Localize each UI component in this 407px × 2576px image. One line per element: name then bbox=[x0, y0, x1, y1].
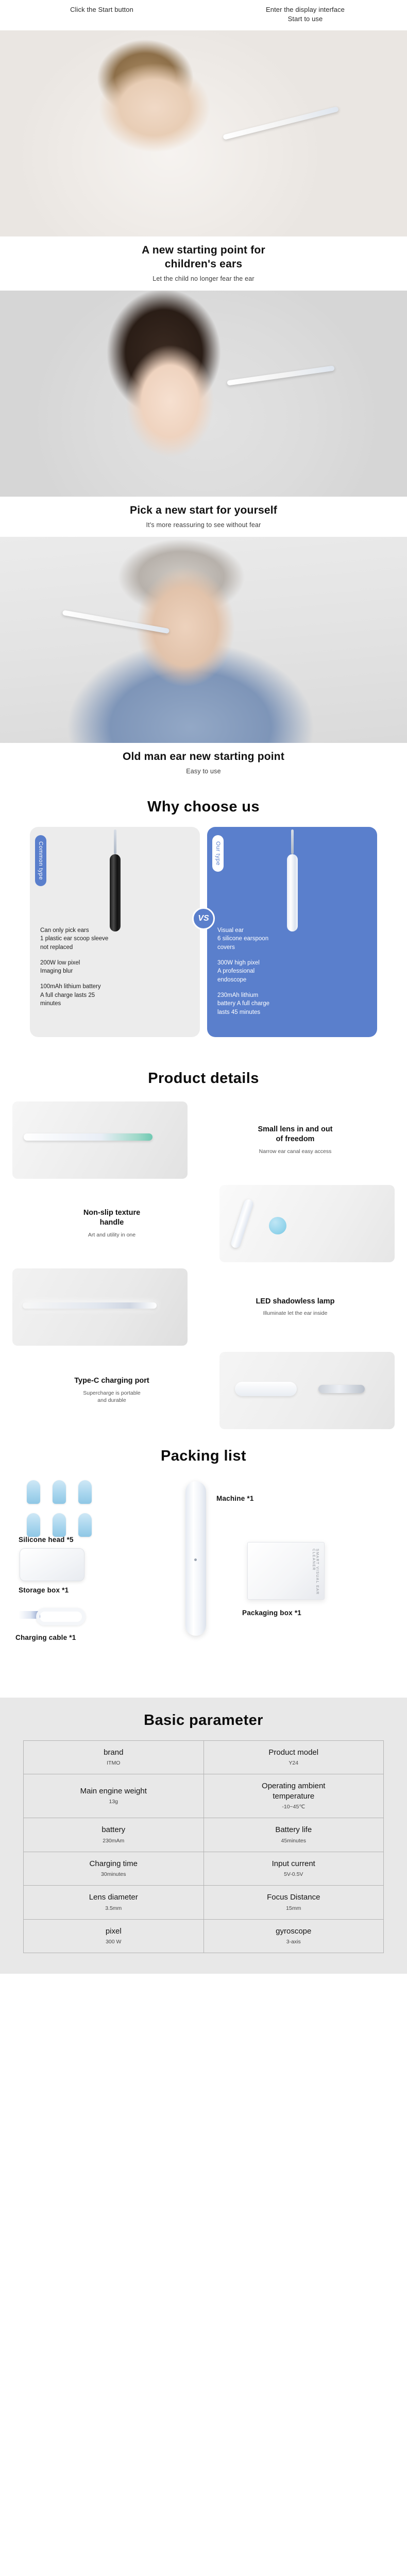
param-key: gyroscope bbox=[208, 1926, 380, 1937]
device-in-hand-icon bbox=[223, 106, 339, 140]
scene-woman-subtitle: It's more reassuring to see without fear bbox=[0, 521, 407, 529]
detail-text-handle: Non-slip texture handle Art and utility … bbox=[12, 1208, 211, 1239]
product-listing-page: Click the Start button Enter the display… bbox=[0, 0, 407, 1974]
param-key: pixel bbox=[28, 1926, 199, 1937]
table-cell: Lens diameter 3.5mm bbox=[24, 1886, 204, 1920]
product-details-heading: Product details bbox=[0, 1055, 407, 1098]
silicone-head-icon bbox=[53, 1480, 66, 1504]
handle-photo bbox=[219, 1185, 395, 1262]
silicone-heads-group bbox=[27, 1480, 96, 1540]
detail-row-led: LED shadowless lamp Illuminate let the e… bbox=[0, 1265, 407, 1349]
packaging-box-brand-text: SMART VISUAL EAR CLEANER bbox=[312, 1549, 319, 1599]
white-device-body bbox=[287, 854, 298, 931]
param-key: Input current bbox=[208, 1859, 380, 1869]
silicone-head-icon bbox=[27, 1513, 40, 1537]
param-value: 5V-0.5V bbox=[208, 1871, 380, 1877]
basic-parameter-table: brand ITMO Product model Y24 Main engine… bbox=[23, 1740, 384, 1954]
param-value: 230mAm bbox=[28, 1838, 199, 1844]
detail-title: Type-C charging port bbox=[15, 1376, 208, 1386]
param-value: 30minutes bbox=[28, 1871, 199, 1877]
param-key: brand bbox=[28, 1748, 199, 1758]
param-value: 300 W bbox=[28, 1939, 199, 1945]
lens-photo bbox=[12, 1101, 188, 1179]
detail-row-handle: Non-slip texture handle Art and utility … bbox=[0, 1182, 407, 1265]
black-device-body bbox=[110, 854, 121, 931]
table-cell: Main engine weight 13g bbox=[24, 1774, 204, 1818]
packaging-box-illustration: SMART VISUAL EAR CLEANER bbox=[247, 1542, 325, 1600]
detail-title: Small lens in and out of freedom bbox=[199, 1125, 392, 1145]
scene-woman-photo bbox=[0, 291, 407, 497]
scene-woman: Pick a new start for yourself It's more … bbox=[0, 291, 407, 537]
detail-subtitle: Illuminate let the ear inside bbox=[199, 1310, 392, 1317]
feature-item: 200W low pixel Imaging blur bbox=[40, 959, 190, 976]
scene-woman-caption: Pick a new start for yourself It's more … bbox=[0, 497, 407, 537]
table-cell: Operating ambient temperature -10~45℃ bbox=[203, 1774, 384, 1818]
ear-scoop-tip-icon bbox=[114, 829, 116, 854]
param-value: 3-axis bbox=[208, 1939, 380, 1945]
param-value: 15mm bbox=[208, 1905, 380, 1911]
packing-label-machine: Machine *1 bbox=[216, 1495, 254, 1502]
detail-subtitle: Art and utility in one bbox=[15, 1231, 208, 1239]
silicone-tip-icon bbox=[291, 829, 294, 854]
detail-text-lens: Small lens in and out of freedom Narrow … bbox=[196, 1125, 395, 1156]
comparison-section: Common type Can only pick ears 1 plastic… bbox=[0, 827, 407, 1055]
scene-baby-title: A new starting point for children's ears bbox=[0, 244, 407, 272]
param-key: Battery life bbox=[208, 1825, 380, 1835]
packing-label-silicone-head: Silicone head *5 bbox=[19, 1536, 74, 1544]
comparison-tag-common: Common type bbox=[35, 835, 46, 886]
param-key: Charging time bbox=[28, 1859, 199, 1869]
why-choose-us-heading: Why choose us bbox=[0, 783, 407, 827]
param-value: Y24 bbox=[208, 1760, 380, 1766]
scene-woman-title: Pick a new start for yourself bbox=[0, 504, 407, 518]
basic-parameter-section: Basic parameter brand ITMO Product model… bbox=[0, 1698, 407, 1974]
scene-oldman: Old man ear new starting point Easy to u… bbox=[0, 537, 407, 783]
scene-baby: A new starting point for children's ears… bbox=[0, 30, 407, 291]
device-in-hand-icon bbox=[227, 365, 334, 385]
param-value: 3.5mm bbox=[28, 1905, 199, 1911]
instruction-row: Click the Start button Enter the display… bbox=[0, 0, 407, 30]
comparison-features-common: Can only pick ears 1 plastic ear scoop s… bbox=[40, 926, 190, 1008]
param-key: Operating ambient temperature bbox=[208, 1781, 380, 1801]
scene-baby-photo bbox=[0, 30, 407, 236]
param-key: Main engine weight bbox=[28, 1786, 199, 1797]
device-in-hand-icon bbox=[62, 610, 170, 634]
table-cell: Product model Y24 bbox=[203, 1740, 384, 1774]
table-cell: pixel 300 W bbox=[24, 1919, 204, 1953]
param-value: 45minutes bbox=[208, 1838, 380, 1844]
table-cell: battery 230mAm bbox=[24, 1818, 204, 1852]
silicone-head-icon bbox=[78, 1513, 92, 1537]
feature-item: 230mAh lithium battery A full charge las… bbox=[217, 991, 367, 1017]
packing-label-charging-cable: Charging cable *1 bbox=[15, 1634, 76, 1641]
charging-cable-illustration bbox=[19, 1605, 91, 1629]
table-cell: gyroscope 3-axis bbox=[203, 1919, 384, 1953]
table-row: Main engine weight 13g Operating ambient… bbox=[24, 1774, 384, 1818]
storage-box-illustration bbox=[20, 1548, 84, 1581]
power-button-icon bbox=[194, 1558, 197, 1561]
detail-row-lens: Small lens in and out of freedom Narrow … bbox=[0, 1098, 407, 1182]
instruction-display-interface: Enter the display interface Start to use bbox=[203, 5, 407, 23]
packing-label-packaging-box: Packaging box *1 bbox=[242, 1609, 301, 1617]
comparison-card-common: Common type Can only pick ears 1 plastic… bbox=[30, 827, 200, 1037]
cable-loop-icon bbox=[36, 1608, 86, 1625]
comparison-features-ours: Visual ear 6 silicone earspoon covers 30… bbox=[217, 926, 367, 1017]
table-row: brand ITMO Product model Y24 bbox=[24, 1740, 384, 1774]
packing-list-section: SMART VISUAL EAR CLEANER Machine *1 Sili… bbox=[0, 1476, 407, 1698]
usb-port-photo bbox=[219, 1352, 395, 1429]
table-cell: Battery life 45minutes bbox=[203, 1818, 384, 1852]
param-key: Lens diameter bbox=[28, 1892, 199, 1903]
param-key: battery bbox=[28, 1825, 199, 1835]
table-row: pixel 300 W gyroscope 3-axis bbox=[24, 1919, 384, 1953]
packing-list-heading: Packing list bbox=[0, 1432, 407, 1476]
comparison-card-ours: Our type Visual ear 6 silicone earspoon … bbox=[207, 827, 377, 1037]
comparison-tag-ours: Our type bbox=[212, 835, 224, 872]
detail-text-led: LED shadowless lamp Illuminate let the e… bbox=[196, 1297, 395, 1317]
param-key: Focus Distance bbox=[208, 1892, 380, 1903]
silicone-head-icon bbox=[53, 1513, 66, 1537]
table-row: Charging time 30minutes Input current 5V… bbox=[24, 1852, 384, 1886]
vs-badge: VS bbox=[192, 907, 215, 930]
detail-subtitle: Narrow ear canal easy access bbox=[199, 1148, 392, 1156]
scene-baby-caption: A new starting point for children's ears… bbox=[0, 236, 407, 291]
param-value: ITMO bbox=[28, 1760, 199, 1766]
packing-label-storage-box: Storage box *1 bbox=[19, 1586, 69, 1594]
param-key: Product model bbox=[208, 1748, 380, 1758]
detail-title: LED shadowless lamp bbox=[199, 1297, 392, 1307]
scene-oldman-title: Old man ear new starting point bbox=[0, 750, 407, 764]
common-device-illustration bbox=[40, 838, 190, 923]
silicone-head-icon bbox=[78, 1480, 92, 1504]
feature-item: 100mAh lithium battery A full charge las… bbox=[40, 982, 190, 1008]
machine-illustration bbox=[185, 1481, 206, 1636]
instruction-start-button: Click the Start button bbox=[0, 5, 203, 23]
scene-oldman-caption: Old man ear new starting point Easy to u… bbox=[0, 743, 407, 783]
feature-item: 300W high pixel A professional endoscope bbox=[217, 959, 367, 985]
scene-oldman-photo bbox=[0, 537, 407, 743]
basic-parameter-heading: Basic parameter bbox=[0, 1712, 407, 1740]
detail-row-usb: Type-C charging port Supercharge is port… bbox=[0, 1349, 407, 1432]
param-value: -10~45℃ bbox=[208, 1804, 380, 1810]
detail-text-usb: Type-C charging port Supercharge is port… bbox=[12, 1376, 211, 1404]
detail-title: Non-slip texture handle bbox=[15, 1208, 208, 1228]
scene-baby-subtitle: Let the child no longer fear the ear bbox=[0, 275, 407, 282]
table-cell: Focus Distance 15mm bbox=[203, 1886, 384, 1920]
param-value: 13g bbox=[28, 1799, 199, 1805]
table-cell: Input current 5V-0.5V bbox=[203, 1852, 384, 1886]
table-row: battery 230mAm Battery life 45minutes bbox=[24, 1818, 384, 1852]
table-cell: brand ITMO bbox=[24, 1740, 204, 1774]
table-row: Lens diameter 3.5mm Focus Distance 15mm bbox=[24, 1886, 384, 1920]
our-device-illustration bbox=[217, 838, 367, 923]
led-photo bbox=[12, 1268, 188, 1346]
detail-subtitle: Supercharge is portable and durable bbox=[15, 1389, 208, 1404]
scene-oldman-subtitle: Easy to use bbox=[0, 768, 407, 775]
silicone-head-icon bbox=[27, 1480, 40, 1504]
table-cell: Charging time 30minutes bbox=[24, 1852, 204, 1886]
